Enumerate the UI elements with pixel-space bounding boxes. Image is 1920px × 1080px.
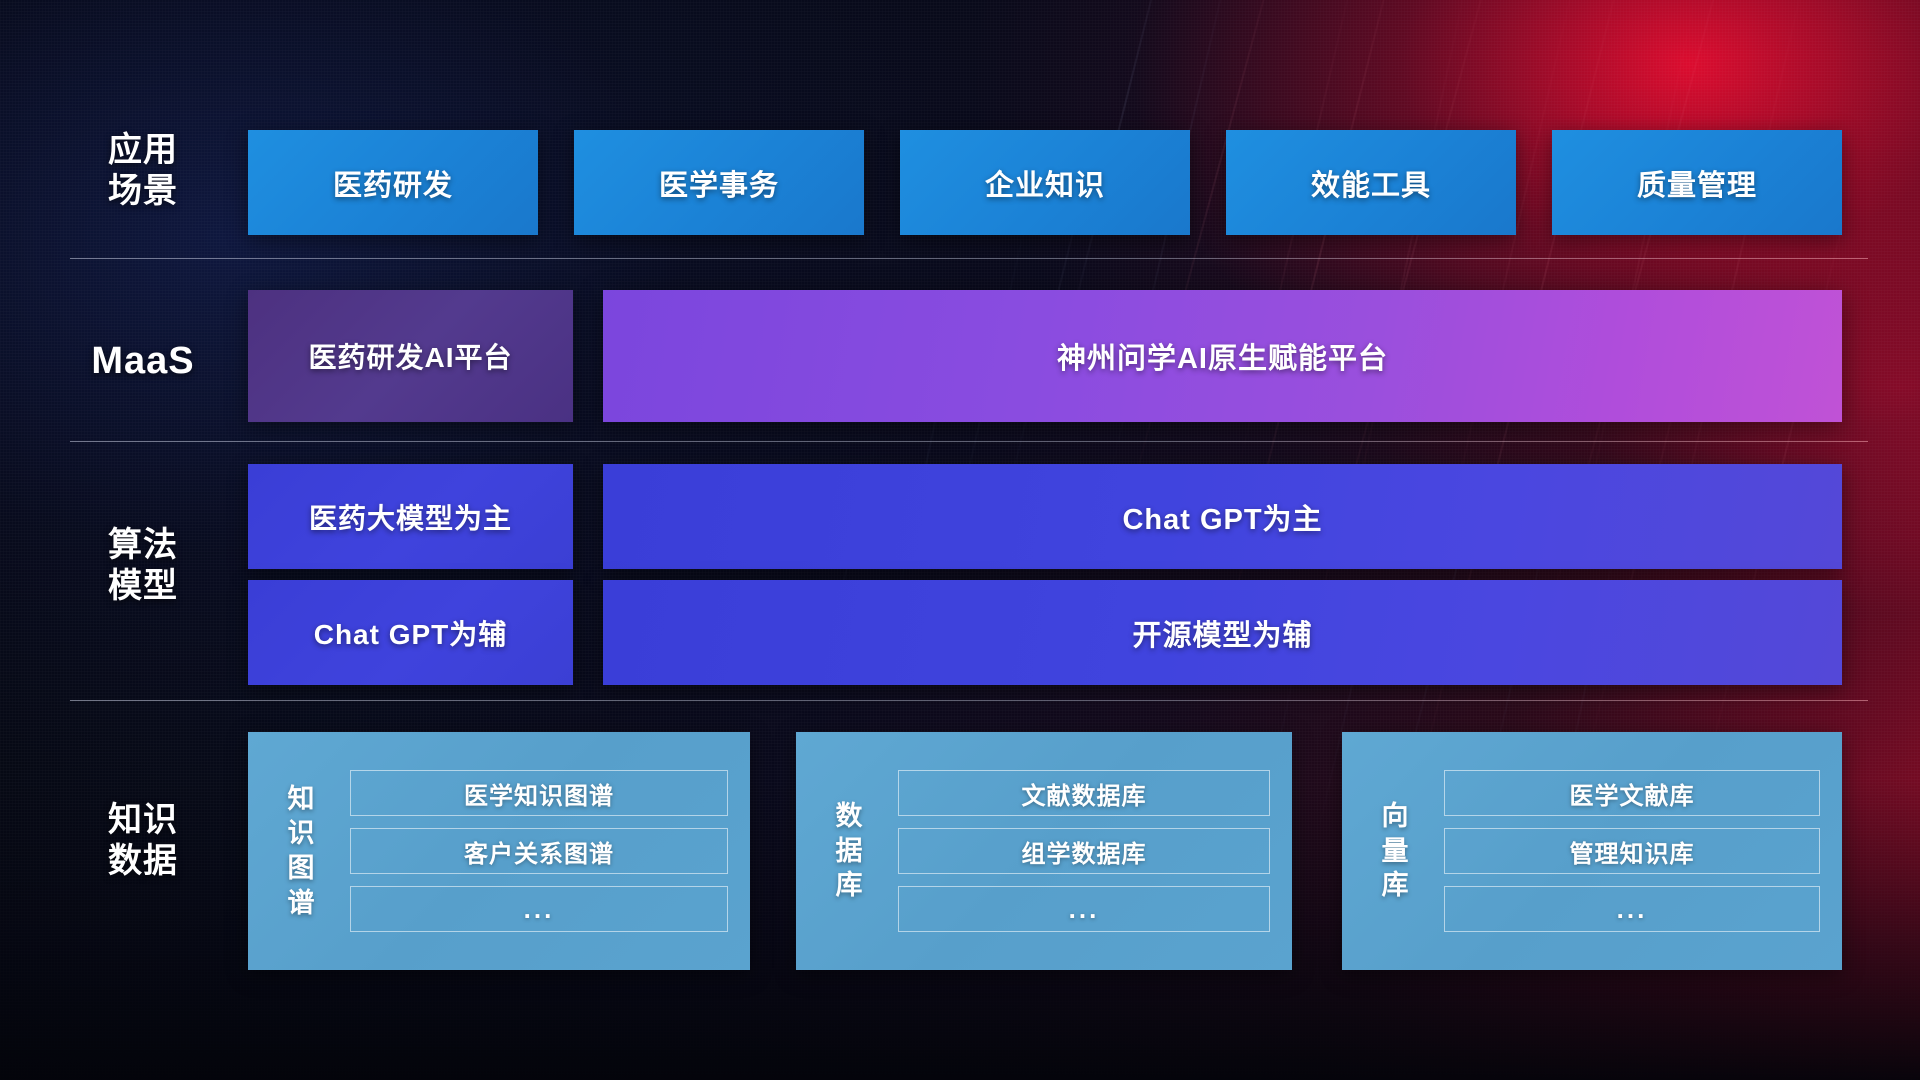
- tier-label-knowledge-line2: 数据: [78, 841, 208, 882]
- maas-box-medicine-ai-platform[interactable]: 医药研发AI平台: [248, 290, 573, 422]
- app-box-quality-management[interactable]: 质量管理: [1552, 130, 1842, 235]
- knowledge-item-literature-db[interactable]: 文献数据库: [898, 770, 1270, 816]
- algo-box-medicine-llm-primary[interactable]: 医药大模型为主: [248, 464, 573, 569]
- knowledge-item-graph-more[interactable]: ...: [350, 886, 728, 932]
- tier-label-knowledge-line1: 知识: [78, 800, 208, 841]
- tier-label-algorithm: 算法 模型: [78, 525, 208, 608]
- algo-box-chatgpt-primary[interactable]: Chat GPT为主: [603, 464, 1842, 569]
- knowledge-group-vector[interactable]: 向量库 医学文献库 管理知识库 ...: [1342, 732, 1842, 970]
- knowledge-item-database-more[interactable]: ...: [898, 886, 1270, 932]
- knowledge-item-medical-literature-lib[interactable]: 医学文献库: [1444, 770, 1820, 816]
- maas-box-shenzhou-wenxue-platform[interactable]: 神州问学AI原生赋能平台: [603, 290, 1842, 422]
- knowledge-item-customer-graph[interactable]: 客户关系图谱: [350, 828, 728, 874]
- knowledge-group-database-items: 文献数据库 组学数据库 ...: [898, 770, 1270, 932]
- knowledge-group-database[interactable]: 数据库 文献数据库 组学数据库 ...: [796, 732, 1292, 970]
- tier-label-maas: MaaS: [78, 338, 208, 384]
- tier-label-knowledge: 知识 数据: [78, 800, 208, 883]
- knowledge-group-graph-category: 知识图谱: [270, 782, 332, 920]
- tier-label-application-line2: 场景: [78, 171, 208, 212]
- divider-application-maas: [70, 258, 1868, 259]
- knowledge-item-vector-more[interactable]: ...: [1444, 886, 1820, 932]
- knowledge-item-management-knowledge-lib[interactable]: 管理知识库: [1444, 828, 1820, 874]
- tier-label-application: 应用 场景: [78, 130, 208, 213]
- algo-box-chatgpt-secondary[interactable]: Chat GPT为辅: [248, 580, 573, 685]
- knowledge-group-vector-items: 医学文献库 管理知识库 ...: [1444, 770, 1820, 932]
- architecture-diagram: 应用 场景 医药研发 医学事务 企业知识 效能工具 质量管理 MaaS 医药研发…: [0, 0, 1920, 1080]
- tier-label-algorithm-line1: 算法: [78, 525, 208, 566]
- divider-algorithm-knowledge: [70, 700, 1868, 701]
- knowledge-group-graph[interactable]: 知识图谱 医学知识图谱 客户关系图谱 ...: [248, 732, 750, 970]
- knowledge-item-medical-graph[interactable]: 医学知识图谱: [350, 770, 728, 816]
- tier-label-algorithm-line2: 模型: [78, 566, 208, 607]
- knowledge-item-omics-db[interactable]: 组学数据库: [898, 828, 1270, 874]
- knowledge-group-graph-items: 医学知识图谱 客户关系图谱 ...: [350, 770, 728, 932]
- divider-maas-algorithm: [70, 441, 1868, 442]
- knowledge-group-database-category: 数据库: [818, 799, 880, 903]
- app-box-enterprise-knowledge[interactable]: 企业知识: [900, 130, 1190, 235]
- app-box-medical-affairs[interactable]: 医学事务: [574, 130, 864, 235]
- knowledge-group-vector-category: 向量库: [1364, 799, 1426, 903]
- tier-label-application-line1: 应用: [78, 130, 208, 171]
- app-box-medicine-rd[interactable]: 医药研发: [248, 130, 538, 235]
- app-box-efficiency-tools[interactable]: 效能工具: [1226, 130, 1516, 235]
- algo-box-opensource-secondary[interactable]: 开源模型为辅: [603, 580, 1842, 685]
